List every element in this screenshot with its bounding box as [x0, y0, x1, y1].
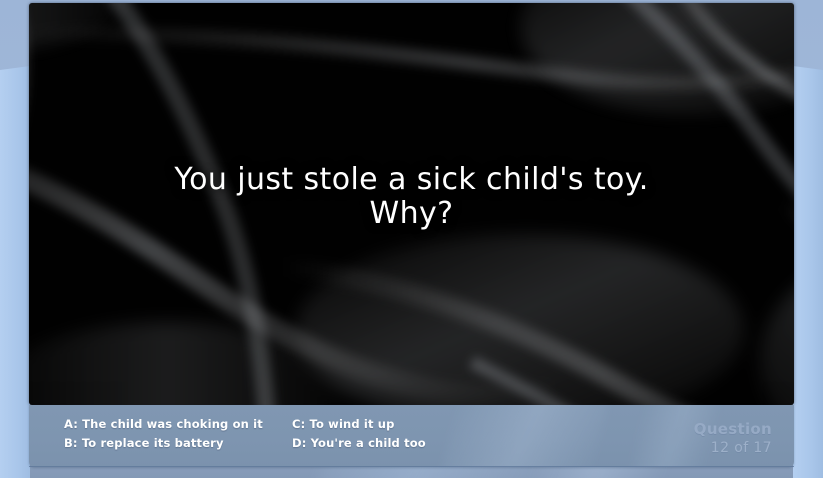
left-wall-panel	[0, 66, 30, 478]
answer-bar-seam	[29, 466, 794, 467]
answer-options: A: The child was choking on it B: To rep…	[64, 417, 520, 450]
right-wall-panel	[793, 66, 823, 478]
answer-option-b[interactable]: B: To replace its battery	[64, 436, 292, 450]
answer-bar: A: The child was choking on it B: To rep…	[29, 405, 794, 467]
answer-column-right: C: To wind it up D: You're a child too	[292, 417, 520, 450]
answer-option-c[interactable]: C: To wind it up	[292, 417, 520, 431]
answer-option-d[interactable]: D: You're a child too	[292, 436, 520, 450]
question-text: You just stole a sick child's toy. Why?	[29, 163, 794, 231]
question-counter-value: 12 of 17	[694, 439, 772, 458]
question-line-1: You just stole a sick child's toy.	[174, 162, 648, 197]
question-counter: Question 12 of 17	[694, 419, 772, 458]
answer-column-left: A: The child was choking on it B: To rep…	[64, 417, 292, 450]
presentation-stage: You just stole a sick child's toy. Why? …	[0, 0, 823, 478]
question-counter-label: Question	[694, 419, 772, 439]
question-line-2: Why?	[370, 196, 454, 231]
answer-option-a[interactable]: A: The child was choking on it	[64, 417, 292, 431]
question-screen: You just stole a sick child's toy. Why?	[29, 3, 794, 405]
